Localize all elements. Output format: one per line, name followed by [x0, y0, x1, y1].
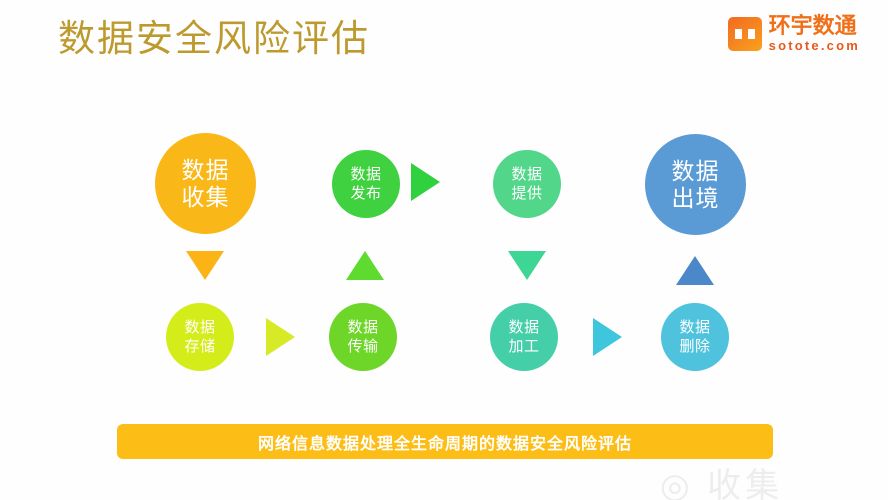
slide-canvas: 数据安全风险评估 环宇数通 sotote.com 数据收集数据发布数据提供数据出…	[0, 0, 888, 500]
flow-node-label-line1: 数据	[508, 318, 539, 337]
flow-arrow-down-icon	[186, 251, 224, 280]
flow-node-label-line2: 存储	[184, 337, 215, 356]
flow-node-label-line1: 数据	[672, 158, 720, 185]
brand-domain: sotote.com	[769, 38, 860, 54]
flow-node-数据删除[interactable]: 数据删除	[661, 303, 729, 371]
flow-node-label-line1: 数据	[350, 165, 381, 184]
flow-node-label-line2: 出境	[672, 185, 720, 212]
flow-node-数据传输[interactable]: 数据传输	[329, 303, 397, 371]
brand-logo: 环宇数通 sotote.com	[728, 14, 860, 54]
flow-node-label-line2: 加工	[508, 337, 539, 356]
flow-arrow-up-icon	[676, 256, 714, 285]
flow-node-label-line2: 传输	[347, 337, 378, 356]
flow-node-数据存储[interactable]: 数据存储	[166, 303, 234, 371]
flow-arrow-down-icon	[508, 251, 546, 280]
page-title: 数据安全风险评估	[58, 16, 370, 62]
watermark: ◎ 收集	[660, 458, 783, 500]
flow-arrow-up-icon	[346, 251, 384, 280]
flow-node-label-line1: 数据	[182, 157, 230, 184]
flow-node-label-line2: 删除	[679, 337, 710, 356]
flow-arrow-right-icon	[593, 318, 622, 356]
flow-node-label-line2: 发布	[350, 184, 381, 203]
summary-banner: 网络信息数据处理全生命周期的数据安全风险评估	[117, 424, 773, 459]
flow-node-数据加工[interactable]: 数据加工	[490, 303, 558, 371]
flow-node-数据发布[interactable]: 数据发布	[332, 150, 400, 218]
flow-node-数据收集[interactable]: 数据收集	[155, 133, 256, 234]
flow-arrow-right-icon	[266, 318, 295, 356]
flow-node-label-line1: 数据	[679, 318, 710, 337]
flow-node-label-line2: 提供	[511, 184, 542, 203]
flow-node-数据出境[interactable]: 数据出境	[645, 134, 746, 235]
h-monogram-icon	[728, 17, 762, 51]
brand-logo-text: 环宇数通 sotote.com	[769, 14, 860, 54]
flow-node-label-line1: 数据	[347, 318, 378, 337]
flow-node-数据提供[interactable]: 数据提供	[493, 150, 561, 218]
flow-node-label-line1: 数据	[511, 165, 542, 184]
brand-name-cn: 环宇数通	[769, 14, 860, 37]
flow-node-label-line2: 收集	[182, 184, 230, 211]
flow-arrow-right-icon	[411, 163, 440, 201]
summary-banner-text: 网络信息数据处理全生命周期的数据安全风险评估	[258, 430, 632, 454]
flow-node-label-line1: 数据	[184, 318, 215, 337]
